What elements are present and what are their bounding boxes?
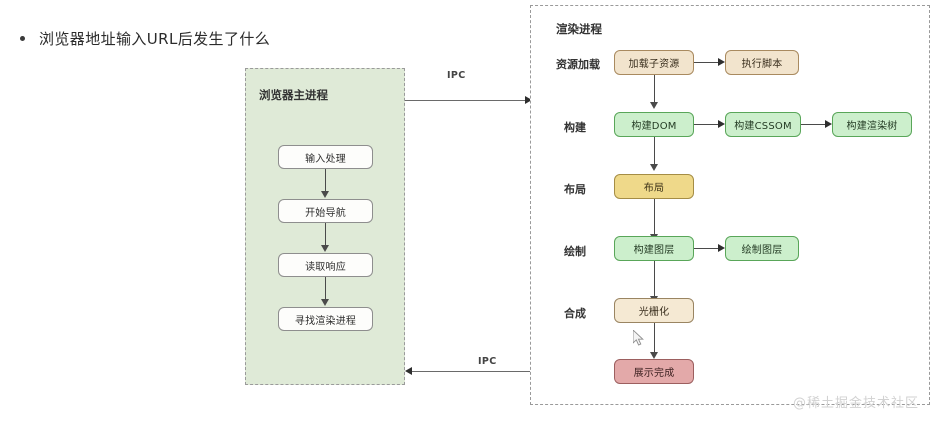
slide-heading: 浏览器地址输入URL后发生了什么 — [20, 28, 270, 49]
row-label-resource-loading: 资源加载 — [556, 56, 600, 72]
connector-build-to-layout — [654, 137, 655, 166]
arrowhead-load-to-script — [718, 58, 725, 66]
node-build-dom[interactable]: 构建DOM — [614, 112, 694, 137]
mouse-cursor-icon — [633, 330, 645, 347]
connector-load-to-script — [694, 62, 720, 63]
node-find-render-process[interactable]: 寻找渲染进程 — [278, 307, 373, 331]
connector-layout-to-paint — [654, 199, 655, 236]
arrowhead-nav-to-response — [321, 245, 329, 252]
connector-paint-to-composite — [654, 261, 655, 298]
node-build-cssom[interactable]: 构建CSSOM — [725, 112, 801, 137]
ipc-label-top: IPC — [447, 70, 466, 81]
arrowhead-rasterize-to-display — [650, 352, 658, 359]
row-label-paint: 绘制 — [564, 243, 586, 259]
node-execute-script[interactable]: 执行脚本 — [725, 50, 799, 75]
connector-layers-to-paint-layers — [694, 248, 720, 249]
connector-response-to-find — [325, 277, 326, 301]
arrowhead-dom-to-cssom — [718, 120, 725, 128]
ipc-label-bottom: IPC — [478, 356, 497, 367]
node-rasterize[interactable]: 光栅化 — [614, 298, 694, 323]
arrowhead-build-to-layout — [650, 164, 658, 171]
browser-main-process-title: 浏览器主进程 — [259, 87, 328, 103]
arrowhead-input-to-nav — [321, 191, 329, 198]
render-process-title: 渲染进程 — [556, 21, 602, 37]
node-load-sub-resources[interactable]: 加载子资源 — [614, 50, 694, 75]
arrowhead-resource-to-build — [650, 102, 658, 109]
node-layout[interactable]: 布局 — [614, 174, 694, 199]
connector-cssom-to-tree — [801, 124, 827, 125]
node-paint-layers[interactable]: 绘制图层 — [725, 236, 799, 261]
ipc-arrow-top-line — [405, 100, 527, 101]
watermark: @稀土掘金技术社区 — [793, 392, 919, 411]
row-label-layout: 布局 — [564, 181, 586, 197]
slide-heading-text: 浏览器地址输入URL后发生了什么 — [39, 28, 270, 49]
connector-dom-to-cssom — [694, 124, 720, 125]
node-build-render-tree[interactable]: 构建渲染树 — [832, 112, 912, 137]
connector-nav-to-response — [325, 223, 326, 247]
arrowhead-response-to-find — [321, 299, 329, 306]
connector-input-to-nav — [325, 169, 326, 193]
connector-resource-to-build — [654, 75, 655, 104]
ipc-arrow-bottom-head — [405, 367, 412, 375]
row-label-composite: 合成 — [564, 305, 586, 321]
arrowhead-layers-to-paint-layers — [718, 244, 725, 252]
bullet-icon — [20, 36, 25, 41]
node-start-navigation[interactable]: 开始导航 — [278, 199, 373, 223]
node-build-layers[interactable]: 构建图层 — [614, 236, 694, 261]
node-input-handling[interactable]: 输入处理 — [278, 145, 373, 169]
connector-rasterize-to-display — [654, 323, 655, 354]
row-label-build: 构建 — [564, 119, 586, 135]
arrowhead-cssom-to-tree — [825, 120, 832, 128]
node-read-response[interactable]: 读取响应 — [278, 253, 373, 277]
node-display-complete[interactable]: 展示完成 — [614, 359, 694, 384]
